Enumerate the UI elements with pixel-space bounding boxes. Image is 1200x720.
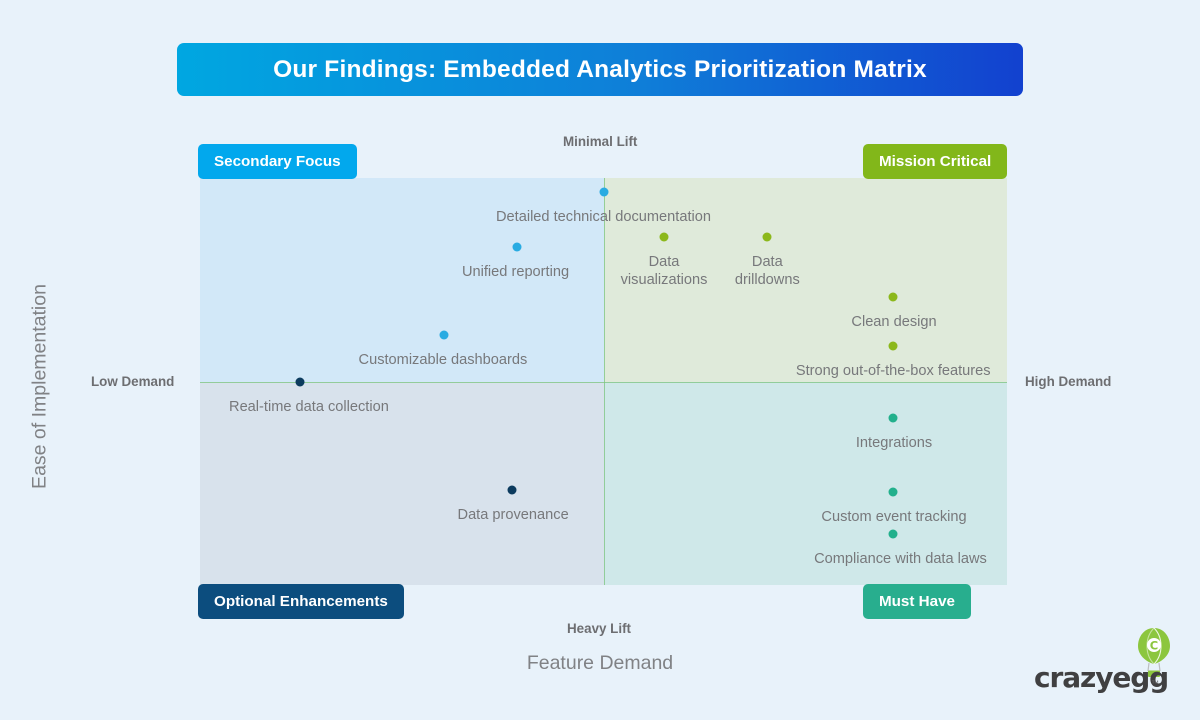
data-point[interactable] <box>296 377 305 386</box>
badge-mission-critical-label: Mission Critical <box>879 153 991 170</box>
data-point[interactable] <box>889 342 898 351</box>
badge-optional-enhancements-label: Optional Enhancements <box>214 593 388 610</box>
axis-cap-minimal-lift: Minimal Lift <box>563 134 637 149</box>
badge-secondary-focus-label: Secondary Focus <box>214 153 341 170</box>
badge-must-have-label: Must Have <box>879 593 955 610</box>
data-point-label: Real-time data collection <box>229 398 389 416</box>
data-point[interactable] <box>439 331 448 340</box>
data-point[interactable] <box>889 530 898 539</box>
badge-secondary-focus: Secondary Focus <box>198 144 357 179</box>
data-point-label: Data drilldowns <box>735 253 800 289</box>
trademark-symbol: ™ <box>1151 679 1159 688</box>
data-point[interactable] <box>599 187 608 196</box>
data-point[interactable] <box>889 292 898 301</box>
data-point-label: Customizable dashboards <box>359 351 528 369</box>
data-point[interactable] <box>763 233 772 242</box>
prioritization-matrix-chart: Detailed technical documentationUnified … <box>200 178 1007 585</box>
data-point-label: Data visualizations <box>621 253 708 289</box>
page-title-banner: Our Findings: Embedded Analytics Priorit… <box>177 43 1023 96</box>
data-point[interactable] <box>889 488 898 497</box>
crazyegg-wordmark: crazyegg <box>1034 661 1168 694</box>
data-point[interactable] <box>889 414 898 423</box>
x-axis-title: Feature Demand <box>0 652 1200 675</box>
axis-cap-heavy-lift: Heavy Lift <box>567 621 631 636</box>
data-point[interactable] <box>660 233 669 242</box>
x-axis-line <box>200 382 1007 384</box>
data-point-label: Data provenance <box>458 506 569 524</box>
badge-mission-critical: Mission Critical <box>863 144 1007 179</box>
data-point-label: Clean design <box>851 313 936 331</box>
badge-must-have: Must Have <box>863 584 971 619</box>
data-point-label: Unified reporting <box>462 263 569 281</box>
badge-optional-enhancements: Optional Enhancements <box>198 584 404 619</box>
data-point-label: Detailed technical documentation <box>496 208 711 226</box>
svg-text:C: C <box>1150 639 1158 653</box>
data-point[interactable] <box>508 486 517 495</box>
data-point-label: Compliance with data laws <box>814 550 987 568</box>
axis-cap-low-demand: Low Demand <box>91 374 174 389</box>
page-title: Our Findings: Embedded Analytics Priorit… <box>273 56 927 84</box>
y-axis-title: Ease of Implementation <box>29 277 52 497</box>
axis-cap-high-demand: High Demand <box>1025 374 1111 389</box>
data-point-label: Custom event tracking <box>821 508 966 526</box>
crazyegg-logo: C crazyegg ™ <box>1032 626 1180 698</box>
data-point-label: Strong out-of-the-box features <box>796 362 991 380</box>
data-point-label: Integrations <box>856 434 932 452</box>
data-point[interactable] <box>513 243 522 252</box>
